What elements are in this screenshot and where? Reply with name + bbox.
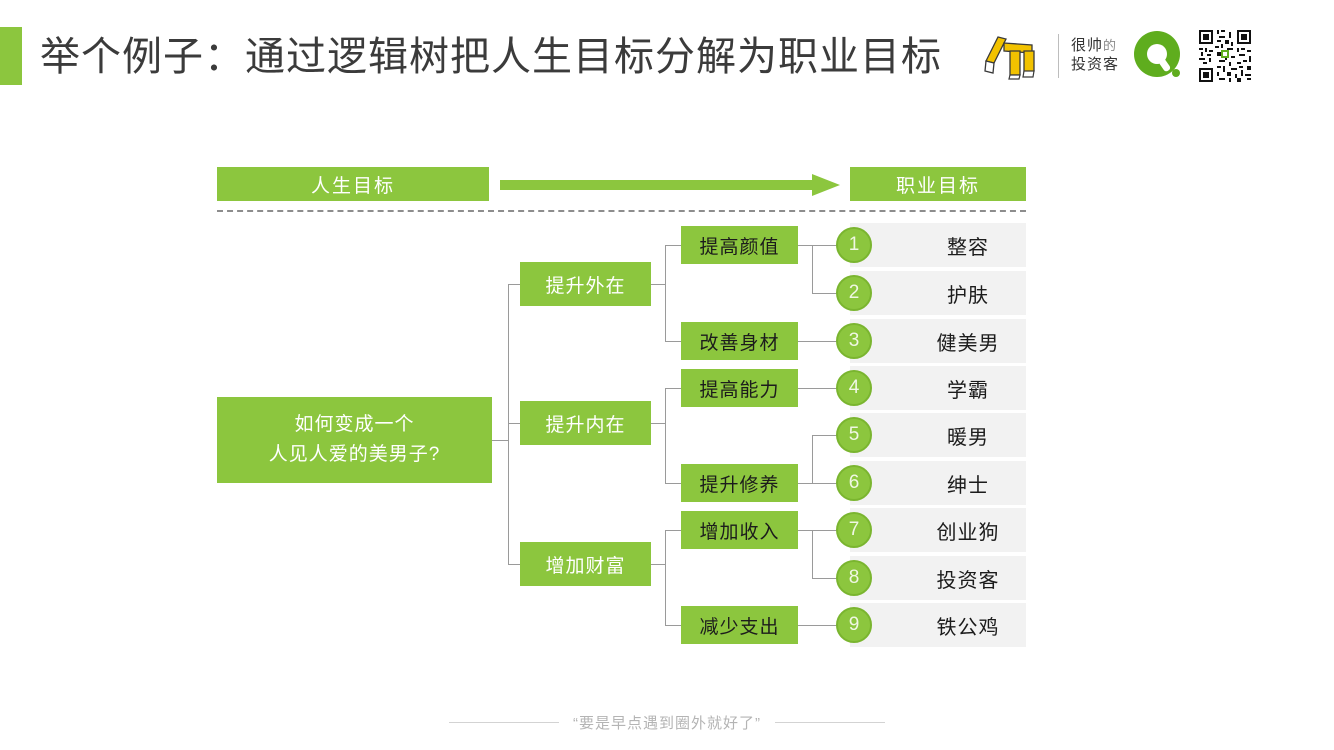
result-row[interactable]: 9 铁公鸡 bbox=[850, 603, 1026, 647]
result-number: 8 bbox=[849, 567, 860, 589]
result-number: 9 bbox=[849, 614, 860, 636]
result-number: 3 bbox=[849, 330, 860, 352]
connector-lvl2-3-to-a bbox=[665, 530, 681, 531]
result-row[interactable]: 2 护肤 bbox=[850, 271, 1026, 315]
footer-line-right bbox=[775, 722, 885, 723]
result-number-badge: 4 bbox=[836, 370, 872, 406]
result-number-badge: 5 bbox=[836, 417, 872, 453]
q-circle-logo-icon bbox=[1131, 29, 1185, 83]
brand-line-2: 投资客 bbox=[1071, 56, 1119, 75]
connector-lvl2-1-stub bbox=[651, 284, 665, 285]
result-label: 创业狗 bbox=[910, 508, 1026, 552]
result-label: 铁公鸡 bbox=[910, 603, 1026, 647]
connector-l3-2-to-r3 bbox=[798, 341, 840, 342]
result-label: 学霸 bbox=[910, 366, 1026, 410]
node-level3-increase-income[interactable]: 增加收入 bbox=[681, 511, 798, 549]
result-row[interactable]: 8 投资客 bbox=[850, 556, 1026, 600]
connector-lvl2-3-to-b bbox=[665, 625, 681, 626]
result-label: 健美男 bbox=[910, 319, 1026, 363]
qr-code-icon bbox=[1197, 28, 1253, 84]
node-level3-reduce-expense[interactable]: 减少支出 bbox=[681, 606, 798, 644]
connector-lvl2-3-stub bbox=[651, 564, 665, 565]
footer-line-left bbox=[449, 722, 559, 723]
result-number: 5 bbox=[849, 424, 860, 446]
node-level2-inner[interactable]: 提升内在 bbox=[520, 401, 651, 445]
result-number-badge: 8 bbox=[836, 560, 872, 596]
result-row[interactable]: 7 创业狗 bbox=[850, 508, 1026, 552]
result-number-badge: 1 bbox=[836, 227, 872, 263]
node-level3-improve-cultivation[interactable]: 提升修养 bbox=[681, 464, 798, 502]
result-label: 整容 bbox=[910, 223, 1026, 267]
connector-l3-4-spine bbox=[812, 435, 813, 483]
brand-line-1-strong: 很帅 bbox=[1071, 37, 1103, 54]
footer-text: “要是早点遇到圈外就好了” bbox=[573, 712, 761, 733]
brand-divider bbox=[1058, 34, 1059, 78]
title-accent-bar bbox=[0, 27, 22, 85]
connector-lvl2-2-to-b bbox=[665, 483, 681, 484]
connector-lvl2-1-to-a bbox=[665, 245, 681, 246]
node-level2-outer[interactable]: 提升外在 bbox=[520, 262, 651, 306]
node-level3-improve-body[interactable]: 改善身材 bbox=[681, 322, 798, 360]
connector-level2-spine bbox=[508, 284, 509, 564]
result-row[interactable]: 5 暖男 bbox=[850, 413, 1026, 457]
node-level3-improve-looks[interactable]: 提高颜值 bbox=[681, 226, 798, 264]
shuai-wordmark-icon bbox=[980, 31, 1046, 81]
node-root-line2: 人见人爱的美男子? bbox=[269, 440, 441, 470]
brand-line-1: 很帅的 bbox=[1071, 37, 1119, 56]
brand-wordmark-text: 很帅的 投资客 bbox=[1071, 37, 1119, 75]
connector-l3-3-to-r4 bbox=[798, 388, 840, 389]
right-arrow-icon bbox=[500, 174, 840, 196]
result-number-badge: 9 bbox=[836, 607, 872, 643]
result-number: 6 bbox=[849, 472, 860, 494]
node-level3-improve-ability[interactable]: 提高能力 bbox=[681, 369, 798, 407]
node-root-line1: 如何变成一个 bbox=[294, 410, 414, 440]
result-number: 4 bbox=[849, 377, 860, 399]
result-row[interactable]: 1 整容 bbox=[850, 223, 1026, 267]
result-number-badge: 6 bbox=[836, 465, 872, 501]
connector-lvl2-3-spine bbox=[665, 530, 666, 625]
node-root-question[interactable]: 如何变成一个 人见人爱的美男子? bbox=[217, 397, 492, 483]
result-row[interactable]: 6 绅士 bbox=[850, 461, 1026, 505]
column-header-life-goal: 人生目标 bbox=[217, 167, 489, 201]
connector-lvl2-1-to-b bbox=[665, 341, 681, 342]
node-level2-wealth[interactable]: 增加财富 bbox=[520, 542, 651, 586]
connector-l3-5-stub bbox=[798, 530, 812, 531]
result-number-badge: 7 bbox=[836, 512, 872, 548]
result-number: 1 bbox=[849, 234, 860, 256]
result-label: 投资客 bbox=[910, 556, 1026, 600]
connector-l3-5-spine bbox=[812, 530, 813, 578]
result-row[interactable]: 3 健美男 bbox=[850, 319, 1026, 363]
connector-lvl2-2-stub bbox=[651, 423, 665, 424]
result-number: 2 bbox=[849, 282, 860, 304]
connector-to-level2-1 bbox=[508, 284, 520, 285]
connector-to-level2-3 bbox=[508, 564, 520, 565]
result-number-badge: 2 bbox=[836, 275, 872, 311]
result-number-badge: 3 bbox=[836, 323, 872, 359]
connector-lvl2-2-to-a bbox=[665, 388, 681, 389]
brand-line-1-light: 的 bbox=[1103, 38, 1117, 53]
connector-lvl2-1-spine bbox=[665, 245, 666, 341]
connector-root-stub bbox=[492, 440, 508, 441]
connector-l3-1-spine bbox=[812, 245, 813, 293]
footer: “要是早点遇到圈外就好了” bbox=[0, 712, 1334, 733]
result-label: 暖男 bbox=[910, 413, 1026, 457]
page-title: 举个例子：通过逻辑树把人生目标分解为职业目标 bbox=[40, 30, 942, 84]
result-row[interactable]: 4 学霸 bbox=[850, 366, 1026, 410]
result-number: 7 bbox=[849, 519, 860, 541]
result-label: 护肤 bbox=[910, 271, 1026, 315]
connector-to-level2-2 bbox=[508, 423, 520, 424]
connector-lvl2-2-spine bbox=[665, 388, 666, 483]
column-header-career-goal: 职业目标 bbox=[850, 167, 1026, 201]
connector-l3-6-to-r9 bbox=[798, 625, 840, 626]
connector-l3-1-stub bbox=[798, 245, 812, 246]
header-dashed-divider bbox=[217, 210, 1026, 212]
brand-cluster: 很帅的 投资客 bbox=[980, 28, 1253, 84]
connector-l3-4-stub bbox=[798, 483, 812, 484]
result-label: 绅士 bbox=[910, 461, 1026, 505]
slide-canvas: 举个例子：通过逻辑树把人生目标分解为职业目标 很帅的 投资客 bbox=[0, 0, 1334, 750]
